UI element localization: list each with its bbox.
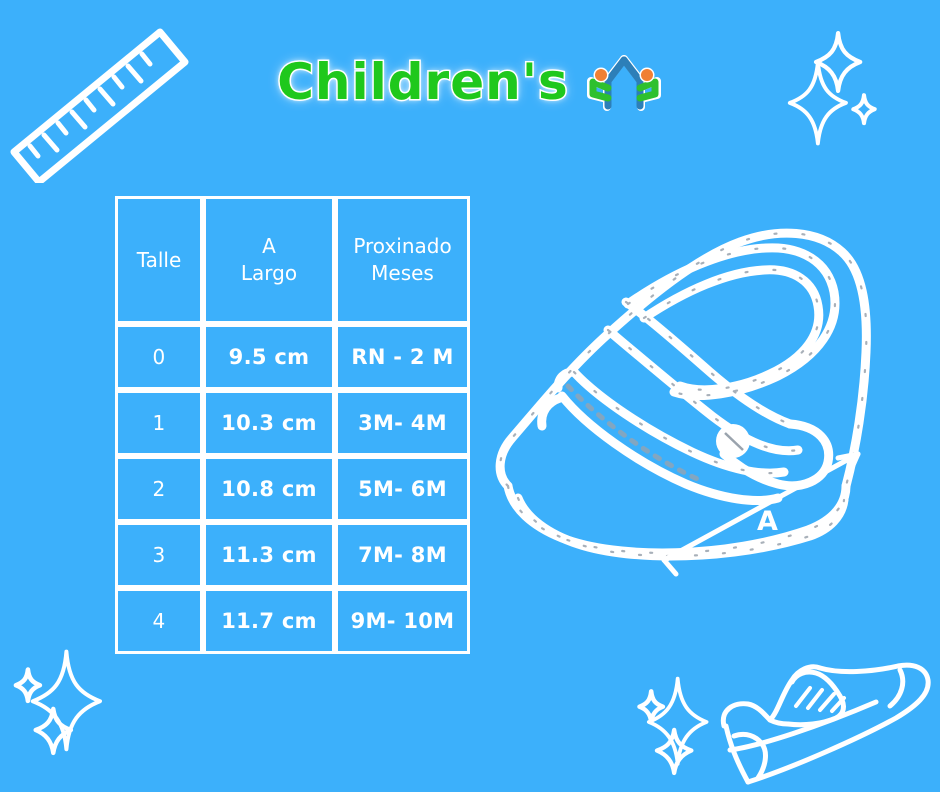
cell-talle: 0 xyxy=(115,324,203,390)
cell-largo: 9.5 cm xyxy=(203,324,335,390)
cell-talle: 1 xyxy=(115,390,203,456)
cell-meses: RN - 2 M xyxy=(335,324,470,390)
column-header-talle-line1: Talle xyxy=(118,247,200,274)
table-row: 0 9.5 cm RN - 2 M xyxy=(115,324,470,390)
sparkles-icon xyxy=(626,668,736,783)
table-header-row: Talle A Largo Proxinado Meses xyxy=(115,196,470,324)
table-row: 3 11.3 cm 7M- 8M xyxy=(115,522,470,588)
sneaker-outline-icon xyxy=(700,640,940,788)
column-header-meses: Proxinado Meses xyxy=(335,196,470,324)
column-header-largo-line2: Largo xyxy=(206,260,332,287)
size-table-container: Talle A Largo Proxinado Meses 0 9.5 cm xyxy=(115,196,470,620)
cell-talle: 3 xyxy=(115,522,203,588)
measure-label-a: A xyxy=(757,508,778,535)
cell-meses: 5M- 6M xyxy=(335,456,470,522)
sparkles-icon xyxy=(4,642,134,767)
cell-largo: 10.8 cm xyxy=(203,456,335,522)
cell-meses: 9M- 10M xyxy=(335,588,470,654)
cell-talle: 4 xyxy=(115,588,203,654)
column-header-meses-line2: Meses xyxy=(338,260,467,287)
column-header-largo: A Largo xyxy=(203,196,335,324)
two-children-figures-icon xyxy=(585,51,663,113)
cell-meses: 7M- 8M xyxy=(335,522,470,588)
page-header: Children's xyxy=(0,48,940,116)
column-header-talle: Talle xyxy=(115,196,203,324)
column-header-largo-line1: A xyxy=(206,233,332,260)
cell-largo: 11.7 cm xyxy=(203,588,335,654)
size-chart-canvas: Children's xyxy=(0,0,940,788)
cell-talle: 2 xyxy=(115,456,203,522)
page-title: Children's xyxy=(277,57,569,107)
cell-largo: 11.3 cm xyxy=(203,522,335,588)
table-row: 4 11.7 cm 9M- 10M xyxy=(115,588,470,654)
column-header-meses-line1: Proxinado xyxy=(338,233,467,260)
baby-shoe-outline-icon xyxy=(478,186,888,586)
size-table: Talle A Largo Proxinado Meses 0 9.5 cm xyxy=(115,196,470,654)
cell-meses: 3M- 4M xyxy=(335,390,470,456)
table-row: 1 10.3 cm 3M- 4M xyxy=(115,390,470,456)
table-row: 2 10.8 cm 5M- 6M xyxy=(115,456,470,522)
cell-largo: 10.3 cm xyxy=(203,390,335,456)
